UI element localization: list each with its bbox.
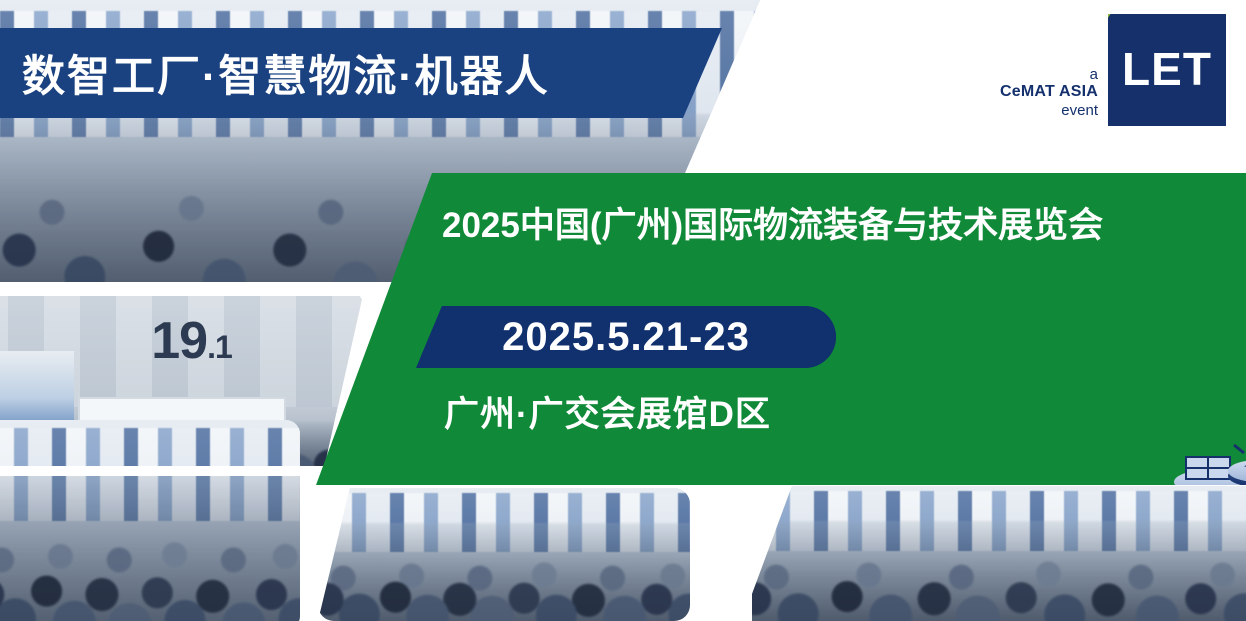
promo-banner: 19.1 数智工厂·智慧物流·机器人 a CeMAT ASIA event xyxy=(0,0,1246,621)
event-date-badge-inner: 2025.5.21-23 xyxy=(416,306,836,368)
photo-crowd-bottom-left xyxy=(0,420,300,621)
hall-number-suffix: .1 xyxy=(207,329,232,365)
event-date-text: 2025.5.21-23 xyxy=(502,315,750,360)
cemat-asia-endorsement: a CeMAT ASIA event xyxy=(1000,66,1098,126)
photo-divider-bottom xyxy=(690,470,752,621)
slogan-bar: 数智工厂·智慧物流·机器人 xyxy=(0,28,722,118)
photo-tint xyxy=(742,486,1246,621)
photo-tint xyxy=(0,420,300,621)
event-venue: 广州·广交会展馆D区 xyxy=(444,386,771,437)
event-title: 2025中国(广州)国际物流装备与技术展览会 xyxy=(442,197,1103,248)
photo-crowd-bottom-center xyxy=(318,488,690,621)
event-info-panel: 2025中国(广州)国际物流装备与技术展览会 2025.5.21-23 广州·广… xyxy=(316,173,1246,485)
hall-number-sign: 19.1 xyxy=(151,315,232,367)
slogan-text: 数智工厂·智慧物流·机器人 xyxy=(22,42,550,104)
cemat-line-event: event xyxy=(1000,102,1098,120)
logo-lockup: a CeMAT ASIA event LET xyxy=(1000,14,1226,126)
cemat-line-a: a xyxy=(1000,66,1098,84)
let-logo-icon: LET xyxy=(1108,14,1226,126)
cemat-line-name: CeMAT ASIA xyxy=(1000,83,1098,102)
event-date-badge: 2025.5.21-23 xyxy=(416,306,836,368)
let-logo-wordmark: LET xyxy=(1108,46,1226,92)
hall-number-main: 19 xyxy=(151,312,207,370)
photo-tint xyxy=(318,488,690,621)
photo-crowd-bottom-right xyxy=(742,486,1246,621)
